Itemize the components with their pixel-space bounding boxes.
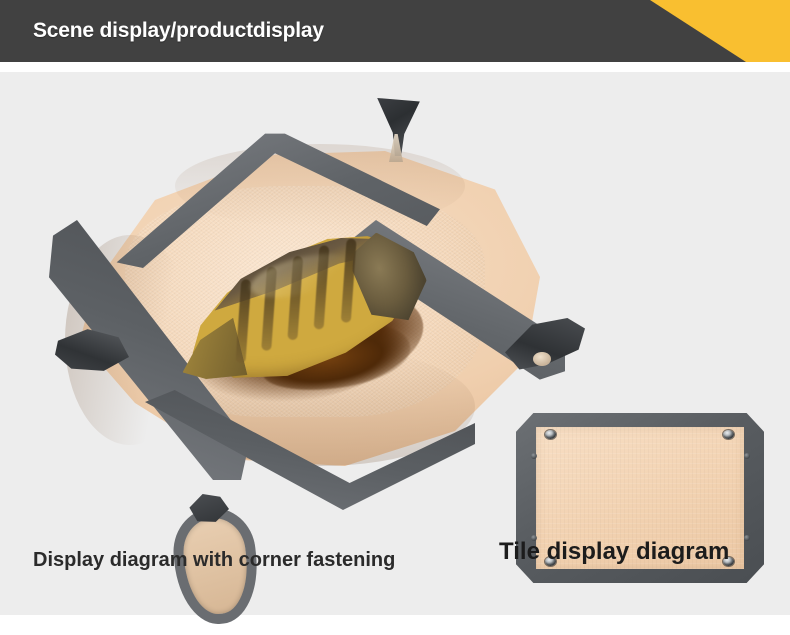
rivet-right-upper [744,453,750,459]
header-accent-shape [590,0,790,62]
grommet-top-left [545,430,556,439]
grommet-top-right [723,430,734,439]
page-title: Scene display/productdisplay [33,0,324,62]
caption-right: Tile display diagram [499,538,729,566]
rivet-right-lower [744,535,750,541]
caption-left: Display diagram with corner fastening [33,549,395,572]
scene-photo-tray [25,90,585,540]
product-detail-page: Scene display/productdisplay [0,0,790,635]
rivet-left-upper [531,453,537,459]
section-header-bar: Scene display/productdisplay [0,0,790,62]
corner-grommet-right [533,352,551,366]
content-stage: Display diagram with corner fastening Ti… [0,72,790,615]
